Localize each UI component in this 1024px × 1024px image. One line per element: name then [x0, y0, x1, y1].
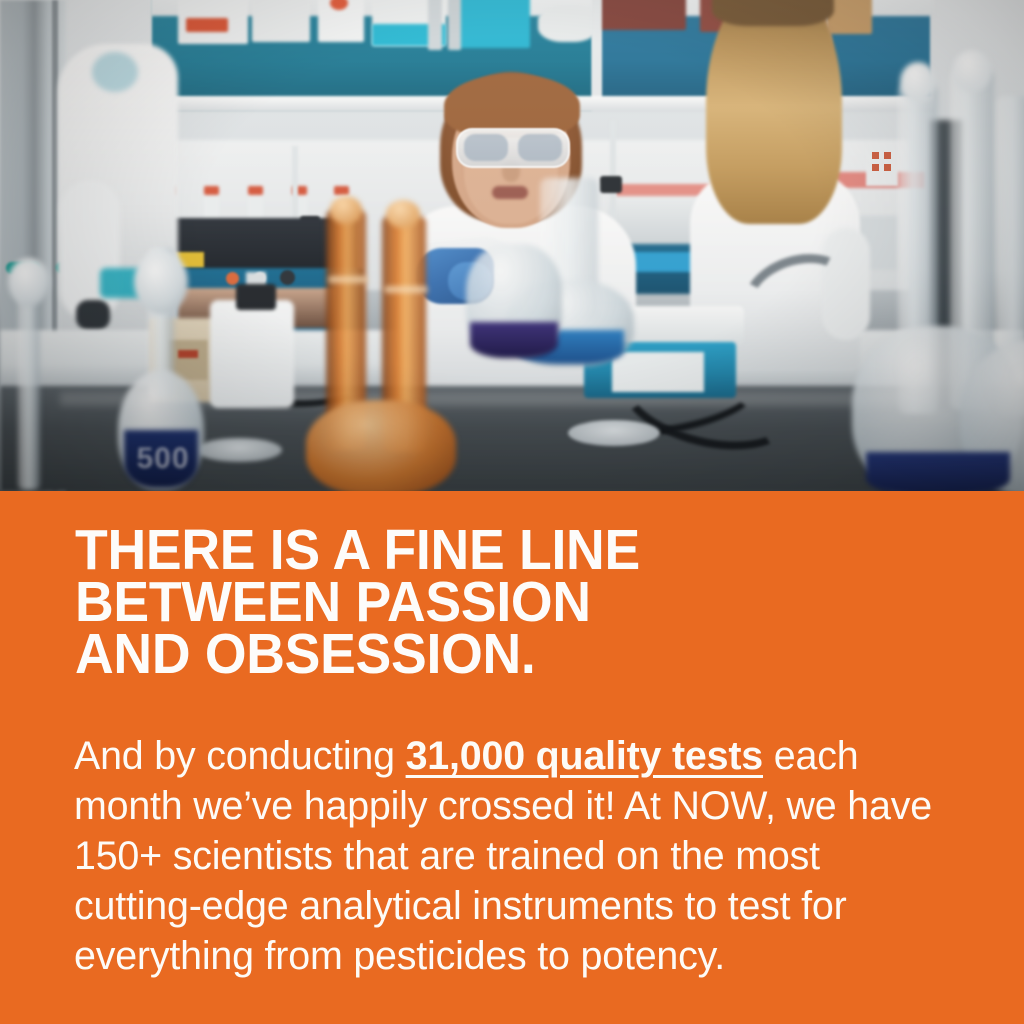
shelf-tube-2	[448, 0, 461, 50]
shelf-box-5	[452, 0, 530, 48]
center-flask-2-liquid	[470, 322, 558, 358]
flask-left-bulb	[134, 250, 188, 314]
clear-column-2-stopper	[952, 50, 992, 92]
white-reagent-bottle	[210, 300, 294, 408]
body-copy-before: And by conducting	[74, 734, 406, 778]
shelf-box-2	[252, 0, 310, 42]
orange-text-panel: THERE IS A FINE LINE BETWEEN PASSION AND…	[0, 491, 1024, 1024]
switch-dot-4	[884, 164, 891, 171]
instrument-right-accent	[626, 252, 698, 272]
social-post-card: 500 THERE IS A FINE LINE BETWEEN PASSION…	[0, 0, 1024, 1024]
scientist-left-collar	[92, 52, 138, 92]
quality-tests-emphasis: 31,000 quality tests	[406, 734, 763, 778]
scientist-center-mouth	[492, 186, 528, 199]
clear-flask-liquid	[866, 452, 1010, 491]
clear-column-1-stopper	[900, 62, 936, 102]
petri-dish-2	[196, 438, 282, 462]
goggles-lens-right	[518, 134, 562, 161]
scientist-right-hair-top	[712, 0, 834, 26]
scientist-right-hair	[706, 0, 842, 224]
switch-dot-1	[872, 152, 879, 159]
body-copy: And by conducting 31,000 quality tests e…	[74, 731, 941, 981]
outlet-indicator	[178, 350, 198, 358]
shelf-tube-1	[428, 0, 442, 50]
amber-ring-1	[328, 276, 368, 283]
amber-stopper-2	[386, 200, 420, 228]
shelf-bottle	[538, 6, 598, 42]
scientist-left-hand	[76, 300, 110, 330]
amber-ring-2	[384, 286, 428, 293]
amber-stopper-1	[330, 196, 362, 224]
lab-photo: 500	[0, 0, 1024, 491]
stand-rod-right	[610, 120, 616, 230]
instrument-knob-1	[226, 272, 239, 285]
petri-dish-1	[568, 420, 660, 446]
flask-volume-label: 500	[126, 442, 200, 476]
goggles-lens-left	[464, 134, 508, 161]
cabinet-divider-1	[592, 0, 602, 102]
scientist-left-arm	[60, 180, 120, 320]
switch-dot-2	[884, 152, 891, 159]
shelf-box-label-1	[186, 18, 228, 32]
pipette-far-left-bulb	[8, 258, 50, 306]
amber-flask-body	[306, 400, 456, 491]
wall-switch-plate	[866, 144, 898, 186]
page-title: THERE IS A FINE LINE BETWEEN PASSION AND…	[75, 524, 921, 680]
switch-dot-3	[872, 164, 879, 171]
shelf-box-6	[596, 0, 686, 30]
instrument-knob-3	[280, 270, 295, 285]
clamp-right	[600, 176, 622, 193]
bottle-cap	[236, 284, 276, 310]
